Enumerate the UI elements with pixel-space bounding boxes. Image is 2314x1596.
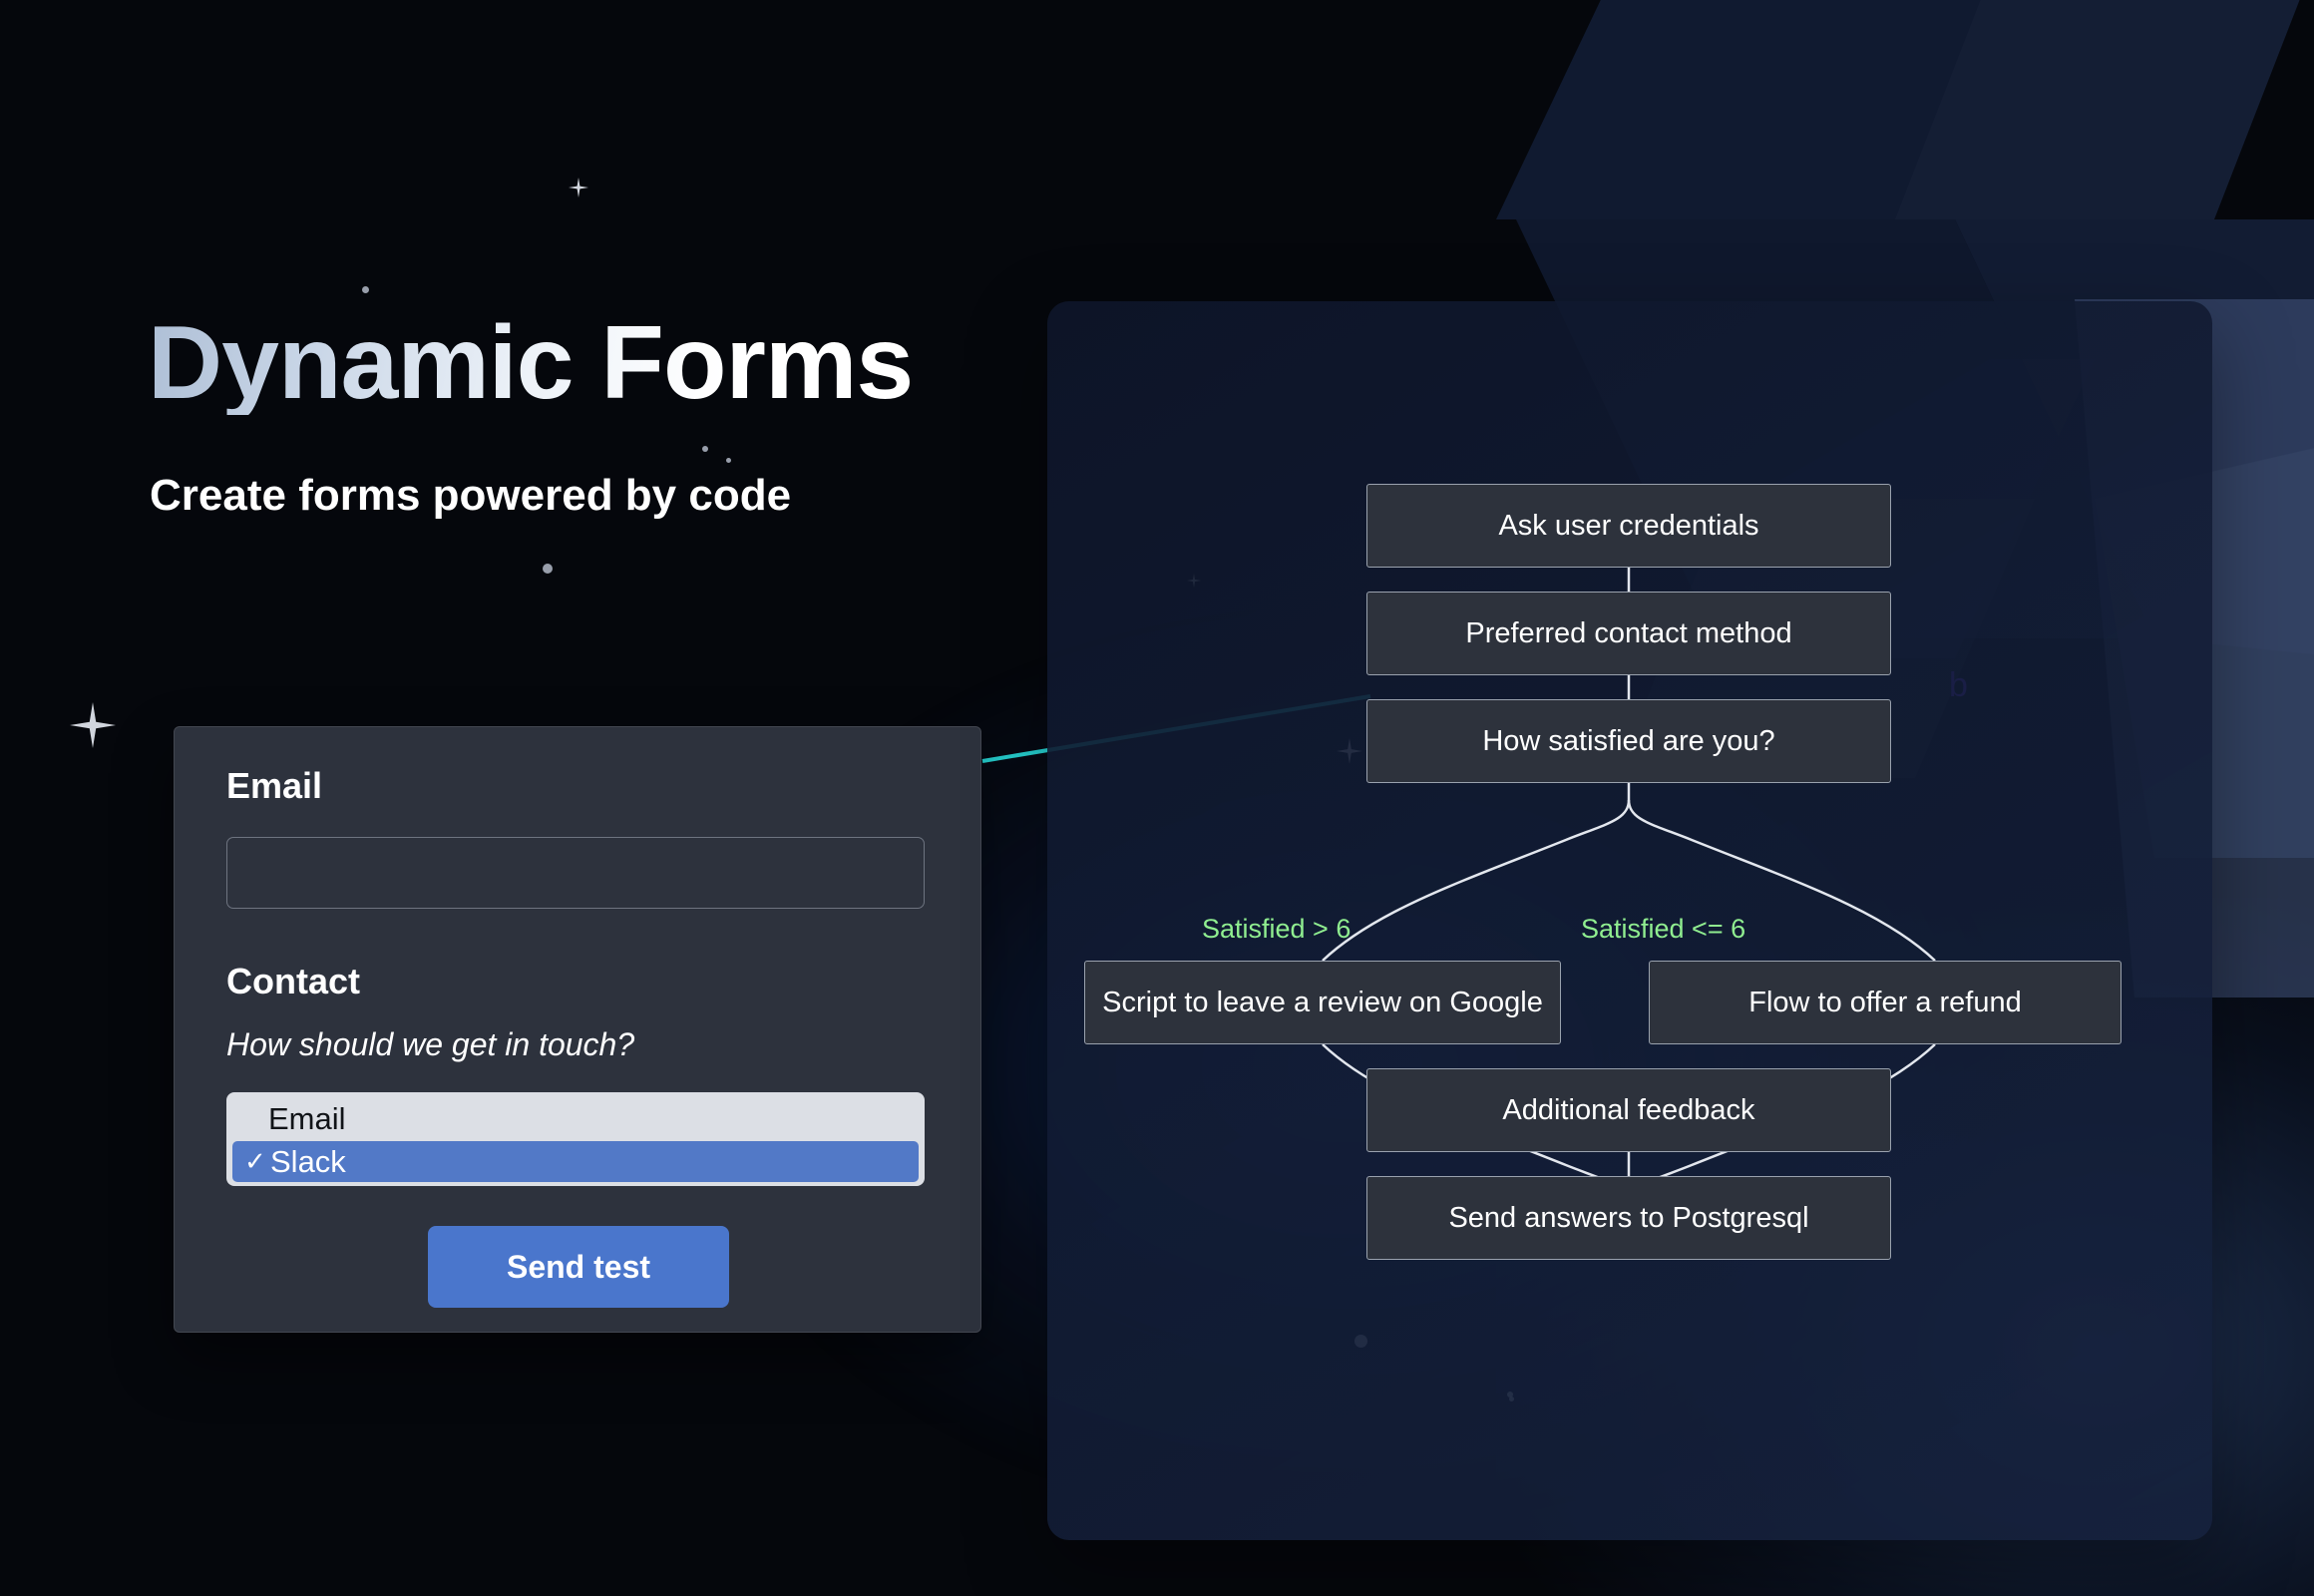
flow-node-preferred-contact-method[interactable]: Preferred contact method (1366, 592, 1891, 675)
flow-node-label: Script to leave a review on Google (1102, 987, 1543, 1019)
page-title: Dynamic Forms (148, 311, 913, 415)
flow-node-label: Additional feedback (1502, 1094, 1754, 1127)
select-option-label: Slack (270, 1144, 346, 1180)
flow-node-label: Flow to offer a refund (1748, 987, 2022, 1019)
page-subtitle: Create forms powered by code (150, 471, 791, 521)
flow-node-send-answers-to-postgresql[interactable]: Send answers to Postgresql (1366, 1176, 1891, 1260)
flow-node-ask-user-credentials[interactable]: Ask user credentials (1366, 484, 1891, 568)
flow-edge-label-satisfied-gt-6: Satisfied > 6 (1202, 914, 1350, 945)
contact-field-label: Contact (226, 961, 360, 1002)
star-dot (362, 286, 369, 293)
page-root: Dynamic Forms Create forms powered by co… (0, 0, 2314, 1596)
flow-edge-label-satisfied-lte-6: Satisfied <= 6 (1581, 914, 1745, 945)
select-option-label: Email (268, 1101, 346, 1137)
flow-node-how-satisfied-are-you[interactable]: How satisfied are you? (1366, 699, 1891, 783)
flow-node-flow-to-offer-a-refund[interactable]: Flow to offer a refund (1649, 961, 2121, 1044)
email-input[interactable] (226, 837, 925, 909)
select-option-slack[interactable]: ✓ Slack (232, 1141, 919, 1182)
flow-node-script-to-leave-a-review-on-google[interactable]: Script to leave a review on Google (1084, 961, 1561, 1044)
star-dot (543, 564, 553, 574)
form-preview-card: Email Contact How should we get in touch… (174, 726, 981, 1333)
flow-node-label: Preferred contact method (1465, 617, 1791, 650)
send-test-button[interactable]: Send test (428, 1226, 729, 1308)
email-field-label: Email (226, 765, 322, 807)
contact-select[interactable]: Email ✓ Slack (226, 1092, 925, 1186)
check-icon: ✓ (244, 1146, 270, 1177)
star-dot (726, 458, 731, 463)
flow-node-label: Send answers to Postgresql (1448, 1202, 1808, 1235)
flow-node-label: Ask user credentials (1498, 510, 1758, 543)
star-dot (702, 446, 708, 452)
flow-node-label: How satisfied are you? (1482, 725, 1774, 758)
flow-diagram-panel: Ask user credentials Preferred contact m… (1047, 301, 2212, 1540)
contact-field-help-text: How should we get in touch? (226, 1026, 634, 1063)
flow-node-additional-feedback[interactable]: Additional feedback (1366, 1068, 1891, 1152)
select-option-email[interactable]: Email (232, 1098, 919, 1139)
